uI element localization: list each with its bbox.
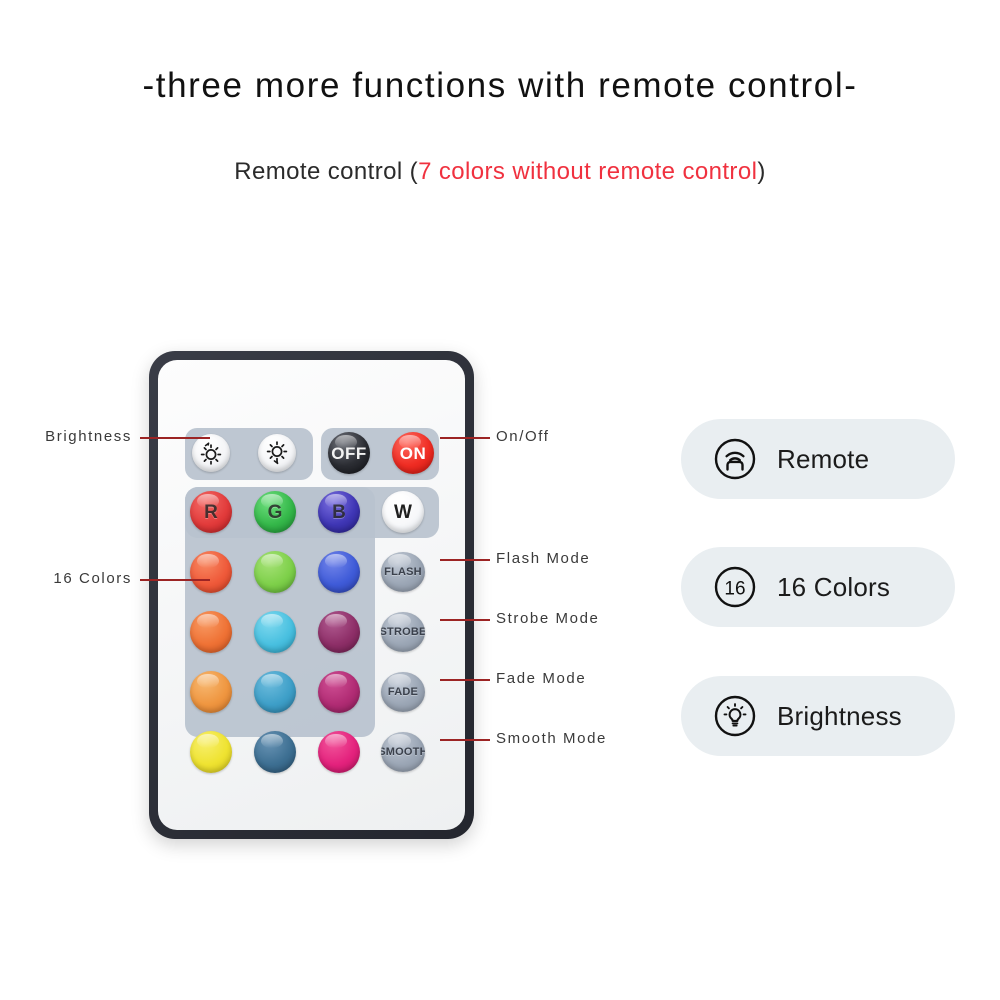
callout-16-colors: 16 Colors xyxy=(22,570,132,587)
leader-line-strobe xyxy=(440,619,490,621)
promo-page: -three more functions with remote contro… xyxy=(0,0,1000,1000)
color-button-blue[interactable]: B xyxy=(318,491,360,533)
callout-on-off: On/Off xyxy=(496,428,550,445)
blue-label: B xyxy=(332,503,346,522)
subtitle-accent: 7 colors without remote control xyxy=(418,158,757,185)
power-on-label: ON xyxy=(400,445,427,462)
callout-smooth-mode: Smooth Mode xyxy=(496,730,607,747)
color-button-white[interactable]: W xyxy=(382,491,424,533)
leader-line-brightness xyxy=(140,437,210,439)
color-swatch-yellow[interactable] xyxy=(190,731,232,773)
feature-card-16-colors-label: 16 Colors xyxy=(777,572,890,603)
fade-mode-button[interactable]: FADE xyxy=(381,672,425,712)
sun-down-icon xyxy=(264,440,290,466)
remote-faceplate: OFF ON R G B W xyxy=(158,360,465,830)
remote-signal-icon xyxy=(713,437,757,481)
flash-mode-button[interactable]: FLASH xyxy=(381,552,425,592)
leader-line-smooth xyxy=(440,739,490,741)
power-on-button[interactable]: ON xyxy=(392,432,434,474)
brightness-up-button[interactable] xyxy=(192,434,230,472)
leader-line-fade xyxy=(440,679,490,681)
feature-card-16-colors[interactable]: 16 16 Colors xyxy=(681,547,955,627)
lightbulb-icon xyxy=(713,694,757,738)
leader-line-16-colors xyxy=(140,579,210,581)
flash-mode-label: FLASH xyxy=(384,567,422,578)
color-swatch-cyan[interactable] xyxy=(254,611,296,653)
subtitle-lead: Remote control ( xyxy=(234,158,418,185)
color-button-green[interactable]: G xyxy=(254,491,296,533)
callout-brightness: Brightness xyxy=(22,428,132,445)
subtitle-tail: ) xyxy=(757,158,765,185)
smooth-mode-button[interactable]: SMOOTH xyxy=(381,732,425,772)
color-swatch-magenta-purple[interactable] xyxy=(318,671,360,713)
leader-line-on-off xyxy=(440,437,490,439)
callout-strobe-mode: Strobe Mode xyxy=(496,610,599,627)
remote-control-device: OFF ON R G B W xyxy=(149,351,474,839)
leader-line-flash xyxy=(440,559,490,561)
color-button-red[interactable]: R xyxy=(190,491,232,533)
sixteen-circle-icon: 16 xyxy=(713,565,757,609)
callout-flash-mode: Flash Mode xyxy=(496,550,590,567)
svg-text:16: 16 xyxy=(724,579,745,600)
smooth-mode-label: SMOOTH xyxy=(381,747,425,758)
color-swatch-sky-blue[interactable] xyxy=(254,671,296,713)
fade-mode-label: FADE xyxy=(388,687,418,698)
page-subtitle: Remote control (7 colors without remote … xyxy=(0,158,1000,186)
color-swatch-orange[interactable] xyxy=(190,611,232,653)
page-title: -three more functions with remote contro… xyxy=(0,66,1000,106)
power-off-button[interactable]: OFF xyxy=(328,432,370,474)
strobe-mode-button[interactable]: STROBE xyxy=(381,612,425,652)
color-swatch-amber[interactable] xyxy=(190,671,232,713)
feature-card-remote[interactable]: Remote xyxy=(681,419,955,499)
color-swatch-orange-red[interactable] xyxy=(190,551,232,593)
feature-card-remote-label: Remote xyxy=(777,444,869,475)
white-label: W xyxy=(394,503,412,522)
red-label: R xyxy=(204,503,218,522)
sun-up-icon xyxy=(198,440,224,466)
color-swatch-plum[interactable] xyxy=(318,611,360,653)
color-swatch-steel-blue[interactable] xyxy=(254,731,296,773)
feature-card-brightness-label: Brightness xyxy=(777,701,902,732)
brightness-down-button[interactable] xyxy=(258,434,296,472)
power-off-label: OFF xyxy=(331,445,367,462)
feature-card-brightness[interactable]: Brightness xyxy=(681,676,955,756)
callout-fade-mode: Fade Mode xyxy=(496,670,586,687)
strobe-mode-label: STROBE xyxy=(381,627,425,638)
color-swatch-pink[interactable] xyxy=(318,731,360,773)
color-swatch-royal-blue[interactable] xyxy=(318,551,360,593)
green-label: G xyxy=(268,503,283,522)
color-swatch-light-green[interactable] xyxy=(254,551,296,593)
